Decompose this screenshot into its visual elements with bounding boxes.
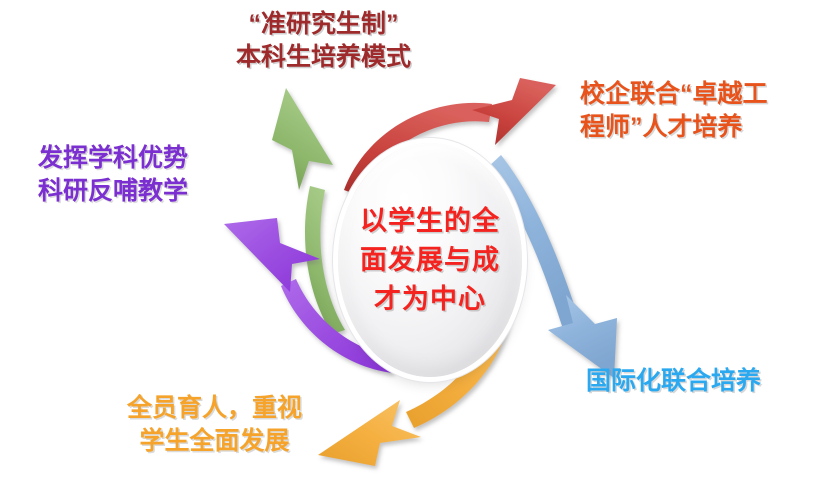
label-undergraduate-model: “准研究生制” 本科生培养模式 xyxy=(236,8,411,73)
label-excellent-engineer-line-2: 程师”人才培养 xyxy=(580,111,768,144)
diagram-canvas: 以学生的全 面发展与成 才为中心 “准研究生制” 本科生培养模式 校企联合“卓越… xyxy=(0,0,824,482)
label-all-staff-education-line-1: 全员育人，重视 xyxy=(127,392,302,425)
label-discipline-advantage-line-2: 科研反哺教学 xyxy=(38,175,188,208)
center-sphere xyxy=(338,143,522,377)
label-undergraduate-model-line-2: 本科生培养模式 xyxy=(236,41,411,74)
label-excellent-engineer-line-1: 校企联合“卓越工 xyxy=(580,78,768,111)
arrow-green-top-left xyxy=(272,88,345,334)
label-all-staff-education-line-2: 学生全面发展 xyxy=(127,425,302,458)
label-excellent-engineer: 校企联合“卓越工 程师”人才培养 xyxy=(580,78,768,143)
label-undergraduate-model-line-1: “准研究生制” xyxy=(236,8,411,41)
label-international-joint-training: 国际化联合培养 xyxy=(586,365,761,398)
label-discipline-advantage-line-1: 发挥学科优势 xyxy=(38,142,188,175)
label-all-staff-education: 全员育人，重视 学生全面发展 xyxy=(127,392,302,457)
label-discipline-advantage: 发挥学科优势 科研反哺教学 xyxy=(38,142,188,207)
label-international-joint-training-line-1: 国际化联合培养 xyxy=(586,365,761,398)
